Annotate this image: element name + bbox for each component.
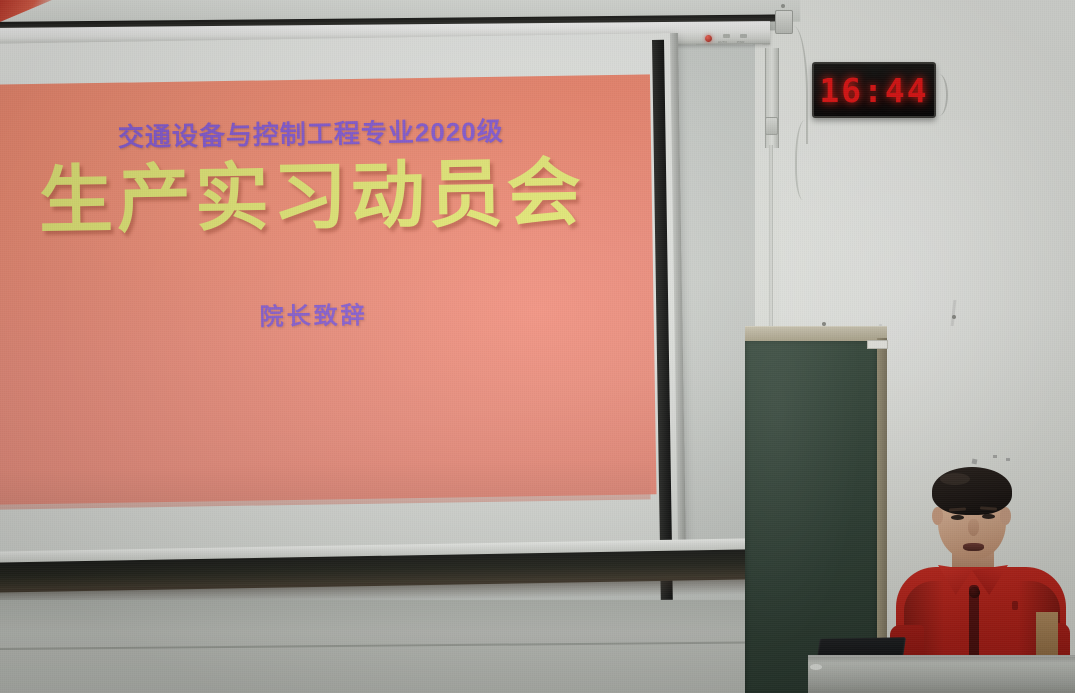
clock-time-display: 16:44 [819, 71, 928, 110]
clock-mount-cable [930, 74, 948, 116]
slide-program-line: 交通设备与控制工程专业2020级 [1, 109, 622, 156]
speaker-hair [932, 467, 1012, 515]
screen-auto-label: AUTO [718, 40, 727, 44]
screen-mount-clip [765, 117, 778, 135]
screen-power-indicator-icon [705, 35, 712, 42]
speaker-mouth [963, 543, 984, 551]
digital-clock: 16:44 [812, 62, 936, 118]
blackboard-screw [822, 322, 826, 326]
speaker-ear-left [932, 507, 943, 525]
slide-speaker-line: 院长致辞 [3, 291, 623, 336]
chair-back [1036, 612, 1058, 660]
speaker-ear-right [1000, 507, 1011, 525]
screen-mount-pole [769, 145, 773, 340]
desk-small-object [810, 664, 822, 670]
screen-auto-button[interactable] [723, 34, 730, 38]
speaker-eye-left [951, 515, 964, 520]
blackboard-top-frame [745, 326, 887, 341]
screen-power-button[interactable] [740, 34, 747, 38]
speaker-shirt-button [969, 587, 980, 598]
screen-power-cable-loop [795, 120, 815, 200]
lecture-hall-photo: AUTO PWR 交通设备与控制工程专业2020级 生产实习动员会 院长致辞 1… [0, 0, 1075, 693]
speaker-eye-right [982, 514, 995, 519]
speaker-nose [968, 519, 979, 536]
screen-power-label: PWR [737, 40, 745, 44]
wall-screw [952, 315, 956, 319]
podium-top-shadow [808, 655, 1075, 663]
speaker-shirt-logo [1012, 601, 1018, 610]
slide-main-title: 生产实习动员会 [1, 153, 622, 240]
blackboard-corner-label [867, 340, 888, 349]
slide-content: 交通设备与控制工程专业2020级 生产实习动员会 院长致辞 [0, 75, 667, 505]
mount-screw [781, 4, 785, 8]
